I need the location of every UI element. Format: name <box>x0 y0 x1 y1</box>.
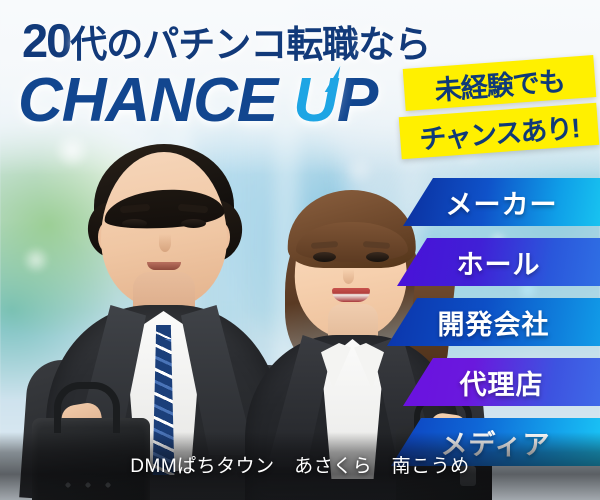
woman-mouth <box>332 288 370 302</box>
category-button-hall[interactable]: ホール <box>397 238 600 286</box>
man-eye-left <box>122 219 147 228</box>
promo-banner[interactable]: 20代のパチンコ転職なら CHANCEUP 未経験でも チャンスあり! メーカー… <box>0 0 600 500</box>
man-eye-right <box>181 219 206 228</box>
man-mouth <box>147 262 181 270</box>
logo-word-chance: CHANCE <box>18 66 277 135</box>
chance-up-logo: CHANCEUP <box>18 70 377 132</box>
caption-text: DMMぱちタウン あさくら 南こうめ <box>0 451 600 478</box>
category-button-developer[interactable]: 開発会社 <box>387 298 600 346</box>
woman-nose <box>343 269 354 284</box>
headline-rest: 代のパチンコ転職 <box>70 24 358 65</box>
logo-letter-p: P <box>337 66 377 135</box>
headline-number: 20 <box>22 14 70 67</box>
woman-eye-left <box>313 252 336 262</box>
headline: 20代のパチンコ転職なら <box>22 16 430 65</box>
logo-letter-u: U <box>293 70 337 132</box>
category-button-maker[interactable]: メーカー <box>403 178 600 226</box>
headline-suffix: なら <box>358 24 430 65</box>
category-button-agency[interactable]: 代理店 <box>403 358 600 406</box>
man-nose <box>159 234 171 252</box>
